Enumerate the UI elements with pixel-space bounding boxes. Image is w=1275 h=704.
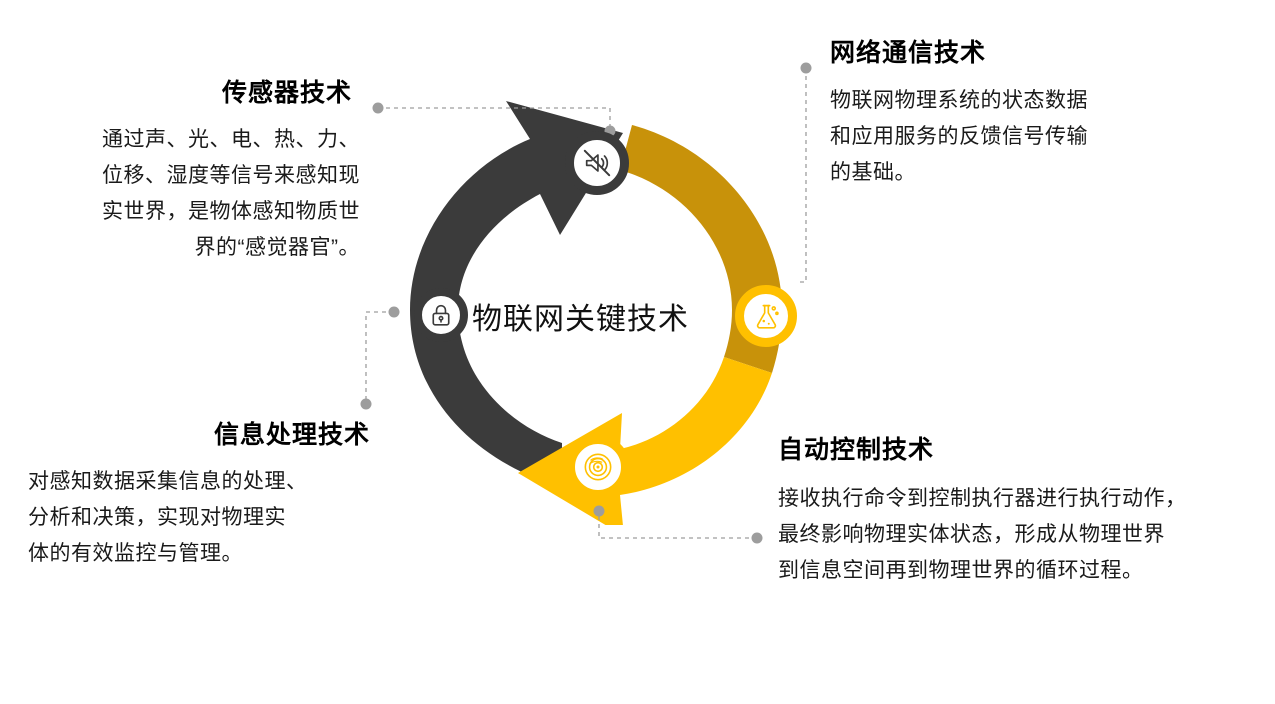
infographic-canvas: 物联网关键技术 传感器技术 通过声、光、电、热、力、 位移、湿度等信号来感知现 … xyxy=(0,0,1275,704)
node-body-line: 到信息空间再到物理世界的循环过程。 xyxy=(778,553,1248,589)
node-title-sensor: 传感器技术 xyxy=(10,78,360,108)
node-body-line: 实世界，是物体感知物质世 xyxy=(10,194,360,230)
node-block-sensor: 传感器技术 通过声、光、电、热、力、 位移、湿度等信号来感知现 实世界，是物体感… xyxy=(10,78,360,266)
node-body-network: 物联网物理系统的状态数据 和应用服务的反馈信号传输 的基础。 xyxy=(830,83,1230,191)
node-body-line: 对感知数据采集信息的处理、 xyxy=(28,464,370,500)
node-body-line: 的基础。 xyxy=(830,155,1230,191)
node-body-line: 界的“感觉器官”。 xyxy=(10,230,360,266)
node-body-sensor: 通过声、光、电、热、力、 位移、湿度等信号来感知现 实世界，是物体感知物质世 界… xyxy=(10,122,360,266)
node-title-control: 自动控制技术 xyxy=(778,435,1248,465)
node-block-infoproc: 信息处理技术 对感知数据采集信息的处理、 分析和决策，实现对物理实 体的有效监控… xyxy=(10,420,370,572)
node-body-infoproc: 对感知数据采集信息的处理、 分析和决策，实现对物理实 体的有效监控与管理。 xyxy=(10,464,370,572)
flask-icon[interactable] xyxy=(735,285,797,347)
node-body-line: 位移、湿度等信号来感知现 xyxy=(10,158,360,194)
node-body-line: 物联网物理系统的状态数据 xyxy=(830,83,1230,119)
node-block-control: 自动控制技术 接收执行命令到控制执行器进行执行动作， 最终影响物理实体状态，形成… xyxy=(778,435,1248,589)
lock-icon[interactable] xyxy=(414,288,468,342)
node-body-line: 接收执行命令到控制执行器进行执行动作， xyxy=(778,481,1248,517)
node-body-line: 通过声、光、电、热、力、 xyxy=(10,122,360,158)
connector-dot xyxy=(752,533,763,544)
node-body-line: 体的有效监控与管理。 xyxy=(28,536,370,572)
disc-icon[interactable] xyxy=(566,435,630,499)
center-label: 物联网关键技术 xyxy=(472,294,689,338)
node-title-network: 网络通信技术 xyxy=(830,38,1230,68)
node-body-line: 分析和决策，实现对物理实 xyxy=(28,500,370,536)
sensor-speaker-icon[interactable] xyxy=(565,131,629,195)
node-body-line: 和应用服务的反馈信号传输 xyxy=(830,119,1230,155)
node-body-control: 接收执行命令到控制执行器进行执行动作， 最终影响物理实体状态，形成从物理世界 到… xyxy=(778,481,1248,589)
node-title-infoproc: 信息处理技术 xyxy=(10,420,370,450)
connector-dot xyxy=(801,63,812,74)
node-block-network: 网络通信技术 物联网物理系统的状态数据 和应用服务的反馈信号传输 的基础。 xyxy=(830,38,1230,191)
node-body-line: 最终影响物理实体状态，形成从物理世界 xyxy=(778,517,1248,553)
